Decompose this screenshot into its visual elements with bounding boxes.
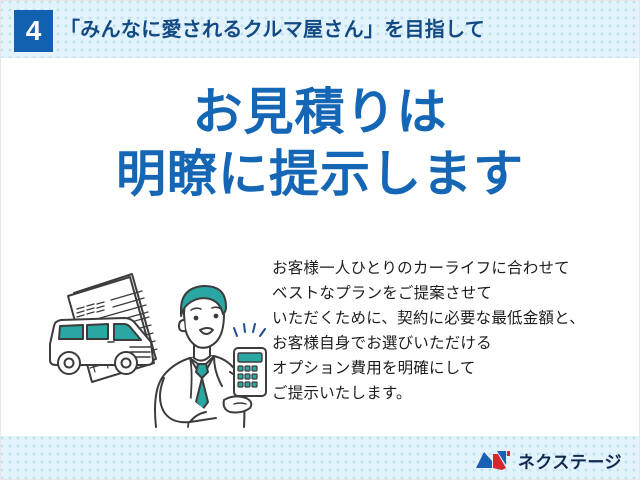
headline-line-2: 明瞭に提示します	[0, 142, 640, 206]
header: 4 「みんなに愛されるクルマ屋さん」を目指して	[0, 0, 640, 58]
headline-line-1: お見積りは	[0, 82, 640, 142]
body-line: ベストなプランをご提案させて	[272, 281, 632, 306]
step-number-badge: 4	[14, 10, 53, 52]
body-line: お客様一人ひとりのカーライフに合わせて	[272, 256, 632, 281]
header-title: 「みんなに愛されるクルマ屋さん」を目指して	[60, 13, 485, 42]
body-line: オプション費用を明確にして	[272, 356, 632, 381]
calculator	[234, 348, 266, 396]
body-line: お客様自身でお選びいただける	[272, 331, 632, 356]
illustration-salesman-calculator	[38, 252, 270, 434]
body-line: ご提示いたします。	[272, 381, 632, 406]
body-copy: お客様一人ひとりのカーライフに合わせて ベストなプランをご提案させて いただくた…	[272, 256, 632, 406]
promo-slide: 4 「みんなに愛されるクルマ屋さん」を目指して お見積りは 明瞭に提示します	[0, 0, 640, 480]
nexstage-n-logo-icon	[475, 448, 511, 472]
sparkle	[234, 324, 265, 336]
headline: お見積りは 明瞭に提示します	[0, 82, 640, 206]
van	[50, 318, 153, 374]
brand-logo: ネクステージ	[475, 446, 622, 474]
body-line: いただくために、契約に必要な最低金額と、	[272, 306, 632, 331]
brand-name: ネクステージ	[518, 448, 622, 473]
